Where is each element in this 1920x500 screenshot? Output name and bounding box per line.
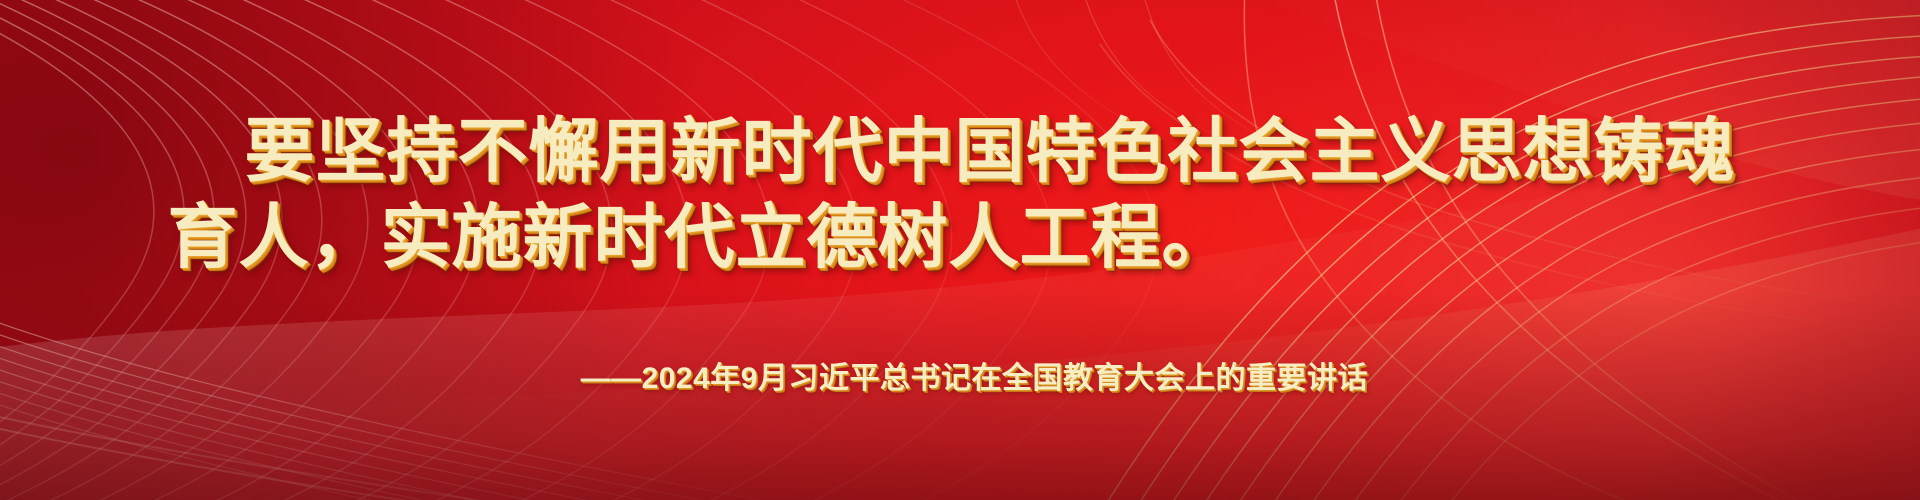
- red-celebration-banner: 要坚持不懈用新时代中国特色社会主义思想铸魂 育人，实施新时代立德树人工程。 ——…: [0, 0, 1920, 500]
- headline-line-1: 要坚持不懈用新时代中国特色社会主义思想铸魂: [0, 108, 1920, 194]
- headline-quote: 要坚持不懈用新时代中国特色社会主义思想铸魂 育人，实施新时代立德树人工程。: [0, 108, 1920, 280]
- quote-attribution: ——2024年9月习近平总书记在全国教育大会上的重要讲话: [0, 358, 1920, 400]
- banner-content: 要坚持不懈用新时代中国特色社会主义思想铸魂 育人，实施新时代立德树人工程。 ——…: [0, 0, 1920, 500]
- headline-line-2: 育人，实施新时代立德树人工程。: [0, 194, 1920, 280]
